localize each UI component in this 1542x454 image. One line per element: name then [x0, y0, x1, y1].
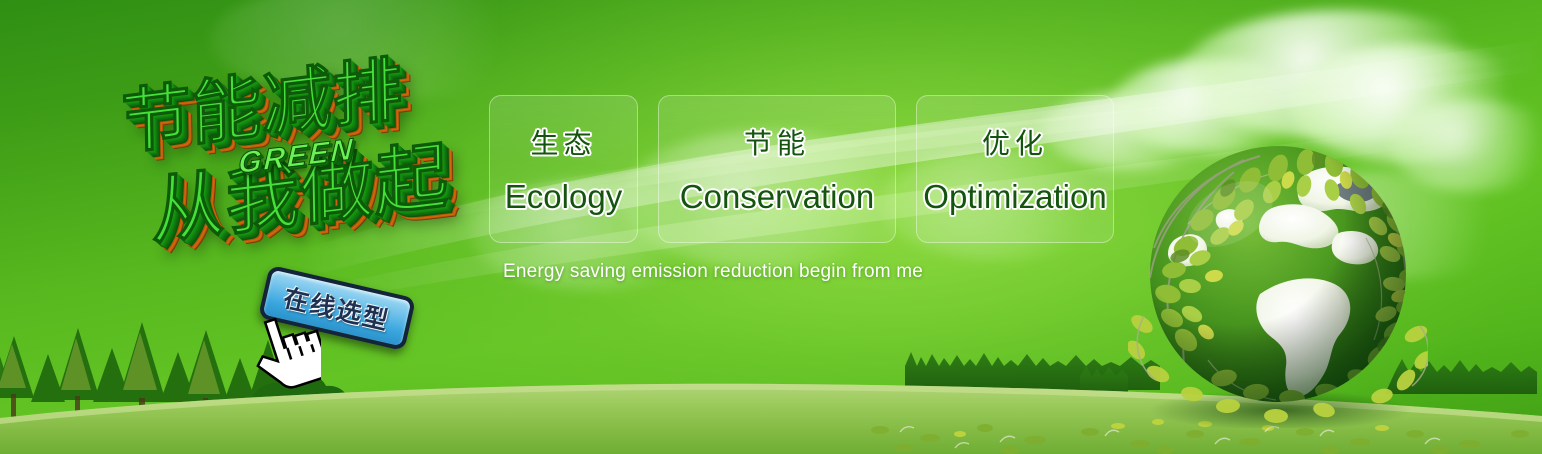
feature-card-cn-label: 生态 [530, 122, 596, 162]
feature-card-en-label: Conservation [680, 178, 874, 216]
feature-card-cn-label: 节能 [744, 122, 810, 162]
tagline-text: Energy saving emission reduction begin f… [503, 261, 923, 283]
cloud-icon [210, 0, 550, 100]
feature-card-ecology[interactable]: 生态 Ecology [489, 95, 638, 243]
feature-card-list: 生态 Ecology 节能 Conservation 优化 Optimizati… [489, 95, 1114, 243]
feature-card-conservation[interactable]: 节能 Conservation [658, 95, 896, 243]
leaf-covered-globe-icon [1128, 128, 1428, 428]
feature-card-optimization[interactable]: 优化 Optimization [916, 95, 1114, 243]
hand-pointer-icon [243, 316, 321, 392]
feature-card-en-label: Optimization [923, 178, 1106, 216]
green-energy-banner: 节能减排 从我做起 GREEN 生态 Ecology 节能 Conservati… [0, 0, 1542, 454]
feature-card-cn-label: 优化 [982, 122, 1048, 162]
feature-card-en-label: Ecology [505, 178, 622, 216]
